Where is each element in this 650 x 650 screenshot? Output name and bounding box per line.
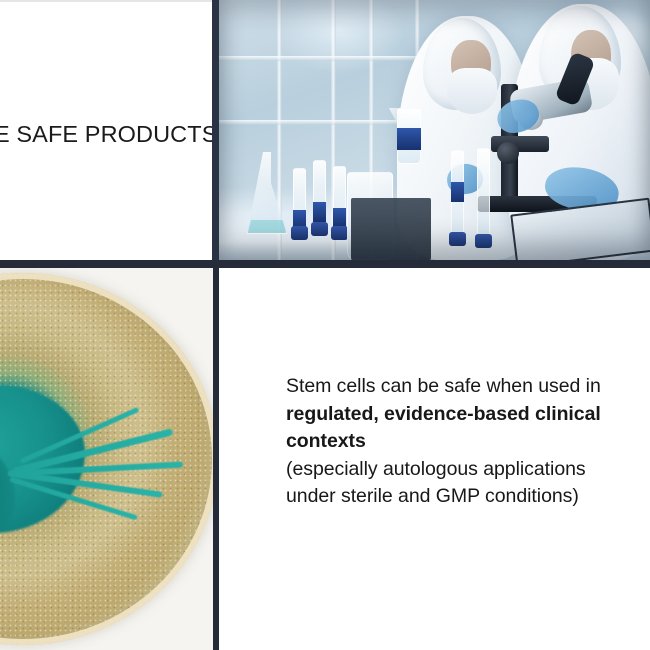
body-line-5: under sterile and GMP conditions) — [286, 485, 579, 507]
cylinder-reagent — [397, 128, 421, 150]
vertical-divider-top — [212, 0, 219, 261]
body-line-1: Stem cells can be safe when used in — [286, 375, 601, 397]
horizontal-divider — [0, 260, 650, 268]
test-tube — [477, 148, 490, 240]
lab-photo-image — [219, 0, 650, 260]
test-tube-stopper — [331, 226, 348, 240]
test-tube-stopper — [291, 226, 308, 240]
lab-photo-panel — [219, 0, 650, 260]
test-tube-reagent — [333, 208, 346, 228]
top-hairline — [0, 0, 212, 2]
test-tube-stopper — [311, 222, 328, 236]
presentation-slide: E SAFE PRODUCTS.... — [0, 0, 650, 650]
petri-dish-rim — [0, 273, 213, 645]
reagent-bottle-label — [351, 198, 431, 260]
test-tube-reagent — [451, 182, 464, 202]
body-text-block: Stem cells can be safe when used in regu… — [286, 373, 646, 511]
face-mask — [447, 68, 497, 114]
petri-dish-image — [0, 273, 213, 645]
body-line-3: contexts — [286, 430, 366, 452]
body-line-2: regulated, evidence-based clinical — [286, 403, 601, 425]
heading-panel: E SAFE PRODUCTS.... — [0, 0, 212, 260]
slide-heading: E SAFE PRODUCTS.... — [0, 119, 212, 149]
body-text-panel: Stem cells can be safe when used in regu… — [219, 268, 650, 650]
test-tube-reagent — [313, 202, 326, 222]
test-tube-stopper — [449, 232, 466, 246]
vertical-divider-bottom — [213, 260, 219, 650]
test-tube-stopper — [475, 234, 492, 248]
body-line-4: (especially autologous applications — [286, 458, 586, 480]
petri-dish-panel — [0, 268, 213, 650]
glass-shelf — [219, 56, 433, 61]
microscope-focus-knob — [497, 142, 519, 164]
